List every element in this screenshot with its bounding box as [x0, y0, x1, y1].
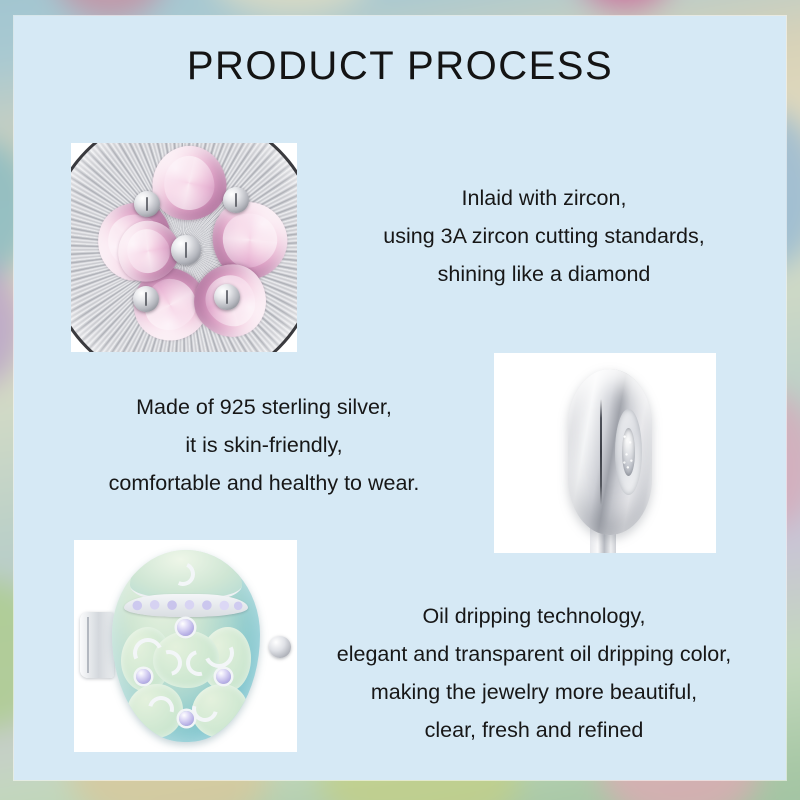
- charm-body: [568, 369, 652, 535]
- silver-bead-lower-right: [214, 284, 240, 310]
- feature-line: it is skin-friendly,: [64, 426, 464, 464]
- zircon-gem-bottom: [179, 711, 194, 726]
- charm-highlight-seam: [600, 399, 603, 505]
- enamel-charm-body: [112, 550, 260, 742]
- charm-core-texture: [622, 428, 635, 476]
- silver-bead-center: [171, 235, 201, 265]
- photo-pink-zircon-flower: [71, 143, 297, 352]
- charm-side-bead: [269, 636, 291, 658]
- feature-text-zircon: Inlaid with zircon, using 3A zircon cutt…: [352, 179, 736, 293]
- photo-silver-bead-charm: [494, 353, 716, 553]
- page-title: PRODUCT PROCESS: [0, 44, 800, 89]
- charm-side-clip: [80, 612, 114, 678]
- silver-bead-lower-left: [133, 286, 159, 312]
- feature-line: making the jewelry more beautiful,: [300, 673, 768, 711]
- feature-line: Made of 925 sterling silver,: [64, 388, 464, 426]
- feature-line: comfortable and healthy to wear.: [64, 464, 464, 502]
- feature-line: using 3A zircon cutting standards,: [352, 217, 736, 255]
- silver-bead-upper-left: [134, 191, 160, 217]
- feature-line: Oil dripping technology,: [300, 597, 768, 635]
- feature-line: Inlaid with zircon,: [352, 179, 736, 217]
- feature-line: clear, fresh and refined: [300, 711, 768, 749]
- silver-bead-upper-right: [223, 187, 249, 213]
- zircon-gem-right: [216, 669, 231, 684]
- zircon-gem-left: [136, 669, 151, 684]
- charm-core-hole: [615, 409, 642, 495]
- pave-zircon-band: [124, 594, 248, 617]
- feature-line: shining like a diamond: [352, 255, 736, 293]
- product-process-infographic: PRODUCT PROCESS: [0, 0, 800, 800]
- feature-text-silver: Made of 925 sterling silver, it is skin-…: [64, 388, 464, 502]
- photo-green-enamel-charm: [74, 540, 297, 752]
- feature-text-enamel: Oil dripping technology, elegant and tra…: [300, 597, 768, 749]
- feature-line: elegant and transparent oil dripping col…: [300, 635, 768, 673]
